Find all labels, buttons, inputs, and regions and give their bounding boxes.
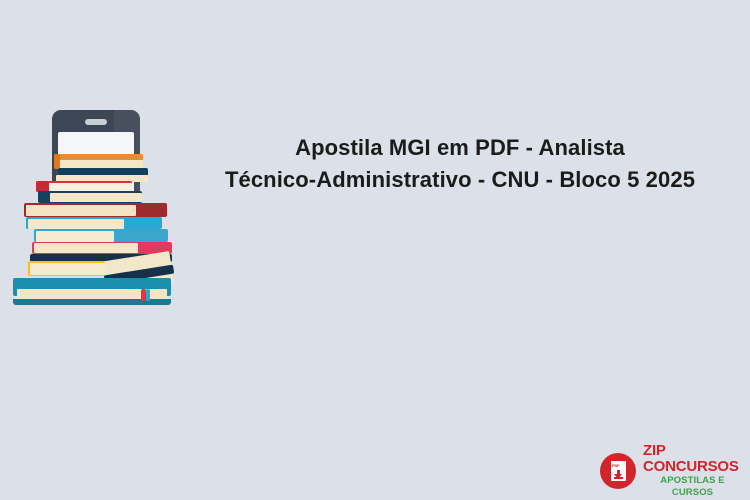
download-arrow-base — [614, 477, 623, 479]
books-illustration — [8, 110, 183, 310]
book-crimson-pages — [34, 243, 138, 253]
book-maroon-pages — [26, 205, 136, 216]
promo-card: Apostila MGI em PDF - Analista Técnico-A… — [0, 0, 750, 500]
pdf-label: PDF — [612, 463, 619, 468]
book-cyan-pages — [28, 219, 124, 229]
document-shape: PDF — [611, 461, 626, 481]
book-navy-mid-pages — [50, 193, 142, 202]
brand-text: ZIP CONCURSOS APOSTILAS E CURSOS — [643, 443, 742, 499]
product-title-line-1: Apostila MGI em PDF - Analista — [215, 132, 705, 164]
brand-name: ZIP CONCURSOS — [643, 443, 742, 475]
book-orange-top-spine — [54, 154, 60, 169]
product-title: Apostila MGI em PDF - Analista Técnico-A… — [215, 132, 705, 196]
document-fold-corner — [621, 461, 626, 466]
book-lightblue-pages — [36, 231, 114, 242]
product-title-line-2: Técnico-Administrativo - CNU - Bloco 5 2… — [215, 164, 705, 196]
brand-tagline: APOSTILAS E CURSOS — [643, 475, 742, 499]
tablet-speaker-icon — [85, 119, 107, 125]
pdf-download-icon: PDF — [600, 453, 636, 489]
brand-logo[interactable]: PDF ZIP CONCURSOS APOSTILAS E CURSOS — [600, 450, 742, 492]
book-red-upper-pages — [48, 183, 132, 191]
book-bookmark-secondary-icon — [146, 289, 150, 301]
